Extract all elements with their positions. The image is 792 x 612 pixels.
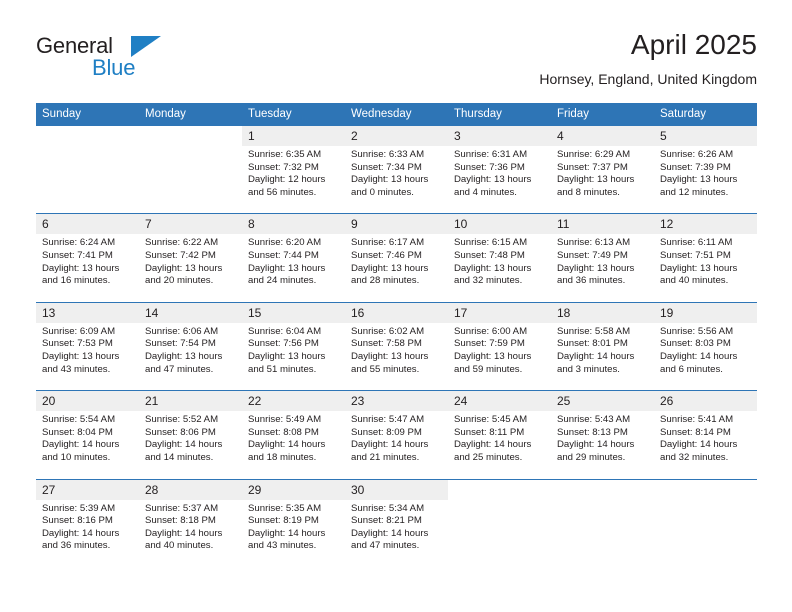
day-number: 30 — [345, 480, 448, 500]
sunset-time: Sunset: 7:36 PM — [454, 162, 545, 175]
daylight-duration-line1: Daylight: 14 hours — [351, 528, 442, 541]
day-number: 4 — [551, 126, 654, 146]
sunset-time: Sunset: 7:53 PM — [42, 338, 133, 351]
calendar-cell-inner: 18Sunrise: 5:58 AMSunset: 8:01 PMDayligh… — [551, 303, 654, 390]
day-details: Sunrise: 5:39 AMSunset: 8:16 PMDaylight:… — [36, 500, 139, 567]
sunrise-time: Sunrise: 5:49 AM — [248, 414, 339, 427]
sunrise-time: Sunrise: 5:39 AM — [42, 503, 133, 516]
daylight-duration-line1: Daylight: 13 hours — [557, 174, 648, 187]
sunset-time: Sunset: 7:49 PM — [557, 250, 648, 263]
weekday-header-friday: Friday — [551, 103, 654, 126]
page-title: April 2025 — [539, 28, 757, 62]
sunset-time: Sunset: 8:06 PM — [145, 427, 236, 440]
calendar-day-cell[interactable]: 28Sunrise: 5:37 AMSunset: 8:18 PMDayligh… — [139, 479, 242, 567]
calendar-day-cell[interactable]: 30Sunrise: 5:34 AMSunset: 8:21 PMDayligh… — [345, 479, 448, 567]
sunrise-time: Sunrise: 6:26 AM — [660, 149, 751, 162]
daylight-duration-line2: and 32 minutes. — [660, 452, 751, 465]
calendar-cell-inner: 30Sunrise: 5:34 AMSunset: 8:21 PMDayligh… — [345, 480, 448, 567]
sunset-time: Sunset: 7:42 PM — [145, 250, 236, 263]
calendar-cell-inner: 7Sunrise: 6:22 AMSunset: 7:42 PMDaylight… — [139, 214, 242, 301]
day-details: Sunrise: 5:41 AMSunset: 8:14 PMDaylight:… — [654, 411, 757, 478]
sunset-time: Sunset: 8:03 PM — [660, 338, 751, 351]
daylight-duration-line2: and 12 minutes. — [660, 187, 751, 200]
daylight-duration-line2: and 18 minutes. — [248, 452, 339, 465]
calendar-day-cell[interactable]: 11Sunrise: 6:13 AMSunset: 7:49 PMDayligh… — [551, 214, 654, 302]
sunset-time: Sunset: 8:01 PM — [557, 338, 648, 351]
day-number — [551, 480, 654, 500]
daylight-duration-line1: Daylight: 13 hours — [42, 263, 133, 276]
calendar-day-cell[interactable]: 10Sunrise: 6:15 AMSunset: 7:48 PMDayligh… — [448, 214, 551, 302]
day-number: 7 — [139, 214, 242, 234]
sunrise-time: Sunrise: 5:52 AM — [145, 414, 236, 427]
day-number: 19 — [654, 303, 757, 323]
calendar-cell-inner: 13Sunrise: 6:09 AMSunset: 7:53 PMDayligh… — [36, 303, 139, 390]
weekday-header-wednesday: Wednesday — [345, 103, 448, 126]
sunset-time: Sunset: 8:18 PM — [145, 515, 236, 528]
day-number — [654, 480, 757, 500]
day-details — [36, 146, 139, 163]
sunrise-time: Sunrise: 6:11 AM — [660, 237, 751, 250]
calendar-day-cell[interactable]: 12Sunrise: 6:11 AMSunset: 7:51 PMDayligh… — [654, 214, 757, 302]
daylight-duration-line2: and 8 minutes. — [557, 187, 648, 200]
calendar-day-cell[interactable]: 1Sunrise: 6:35 AMSunset: 7:32 PMDaylight… — [242, 126, 345, 214]
calendar-cell-inner: 27Sunrise: 5:39 AMSunset: 8:16 PMDayligh… — [36, 480, 139, 567]
sunrise-time: Sunrise: 5:54 AM — [42, 414, 133, 427]
day-number: 15 — [242, 303, 345, 323]
calendar-day-cell[interactable]: 26Sunrise: 5:41 AMSunset: 8:14 PMDayligh… — [654, 391, 757, 479]
daylight-duration-line2: and 6 minutes. — [660, 364, 751, 377]
daylight-duration-line1: Daylight: 13 hours — [660, 263, 751, 276]
day-details: Sunrise: 5:45 AMSunset: 8:11 PMDaylight:… — [448, 411, 551, 478]
daylight-duration-line2: and 20 minutes. — [145, 275, 236, 288]
sunrise-time: Sunrise: 6:06 AM — [145, 326, 236, 339]
day-details: Sunrise: 6:06 AMSunset: 7:54 PMDaylight:… — [139, 323, 242, 390]
day-number — [139, 126, 242, 146]
day-number: 11 — [551, 214, 654, 234]
daylight-duration-line1: Daylight: 13 hours — [248, 351, 339, 364]
calendar-cell-inner: 4Sunrise: 6:29 AMSunset: 7:37 PMDaylight… — [551, 126, 654, 213]
calendar-cell-inner: 1Sunrise: 6:35 AMSunset: 7:32 PMDaylight… — [242, 126, 345, 213]
calendar-table: Sunday Monday Tuesday Wednesday Thursday… — [36, 103, 757, 567]
calendar-cell-empty — [654, 479, 757, 567]
calendar-cell-inner: 5Sunrise: 6:26 AMSunset: 7:39 PMDaylight… — [654, 126, 757, 213]
daylight-duration-line2: and 14 minutes. — [145, 452, 236, 465]
calendar-cell-inner: 14Sunrise: 6:06 AMSunset: 7:54 PMDayligh… — [139, 303, 242, 390]
calendar-day-cell[interactable]: 3Sunrise: 6:31 AMSunset: 7:36 PMDaylight… — [448, 126, 551, 214]
sunrise-time: Sunrise: 5:56 AM — [660, 326, 751, 339]
calendar-cell-empty — [139, 126, 242, 214]
daylight-duration-line2: and 47 minutes. — [145, 364, 236, 377]
day-number: 16 — [345, 303, 448, 323]
calendar-day-cell[interactable]: 29Sunrise: 5:35 AMSunset: 8:19 PMDayligh… — [242, 479, 345, 567]
daylight-duration-line2: and 56 minutes. — [248, 187, 339, 200]
day-number: 25 — [551, 391, 654, 411]
calendar-body: 1Sunrise: 6:35 AMSunset: 7:32 PMDaylight… — [36, 126, 757, 567]
calendar-cell-inner: 20Sunrise: 5:54 AMSunset: 8:04 PMDayligh… — [36, 391, 139, 478]
day-details: Sunrise: 5:54 AMSunset: 8:04 PMDaylight:… — [36, 411, 139, 478]
calendar-cell-empty — [36, 126, 139, 214]
daylight-duration-line1: Daylight: 13 hours — [351, 351, 442, 364]
weekday-header-tuesday: Tuesday — [242, 103, 345, 126]
day-number: 2 — [345, 126, 448, 146]
day-number: 17 — [448, 303, 551, 323]
daylight-duration-line1: Daylight: 12 hours — [248, 174, 339, 187]
daylight-duration-line2: and 36 minutes. — [42, 540, 133, 553]
sunrise-time: Sunrise: 5:43 AM — [557, 414, 648, 427]
calendar-header-row: Sunday Monday Tuesday Wednesday Thursday… — [36, 103, 757, 126]
page-subtitle: Hornsey, England, United Kingdom — [539, 71, 757, 88]
weekday-header-thursday: Thursday — [448, 103, 551, 126]
calendar-day-cell[interactable]: 4Sunrise: 6:29 AMSunset: 7:37 PMDaylight… — [551, 126, 654, 214]
weekday-header-monday: Monday — [139, 103, 242, 126]
sunset-time: Sunset: 8:21 PM — [351, 515, 442, 528]
sunrise-time: Sunrise: 6:20 AM — [248, 237, 339, 250]
day-details: Sunrise: 5:56 AMSunset: 8:03 PMDaylight:… — [654, 323, 757, 390]
day-number: 6 — [36, 214, 139, 234]
sunrise-time: Sunrise: 5:34 AM — [351, 503, 442, 516]
daylight-duration-line1: Daylight: 13 hours — [454, 263, 545, 276]
calendar-day-cell[interactable]: 17Sunrise: 6:00 AMSunset: 7:59 PMDayligh… — [448, 302, 551, 390]
daylight-duration-line1: Daylight: 14 hours — [42, 528, 133, 541]
daylight-duration-line1: Daylight: 13 hours — [660, 174, 751, 187]
day-number — [448, 480, 551, 500]
page-header: General Blue April 2025 Hornsey, England… — [36, 28, 757, 98]
day-number: 3 — [448, 126, 551, 146]
calendar-day-cell[interactable]: 24Sunrise: 5:45 AMSunset: 8:11 PMDayligh… — [448, 391, 551, 479]
daylight-duration-line2: and 40 minutes. — [660, 275, 751, 288]
daylight-duration-line2: and 32 minutes. — [454, 275, 545, 288]
day-details: Sunrise: 5:52 AMSunset: 8:06 PMDaylight:… — [139, 411, 242, 478]
day-details: Sunrise: 6:04 AMSunset: 7:56 PMDaylight:… — [242, 323, 345, 390]
calendar-cell-inner: 29Sunrise: 5:35 AMSunset: 8:19 PMDayligh… — [242, 480, 345, 567]
day-number: 12 — [654, 214, 757, 234]
day-number: 29 — [242, 480, 345, 500]
daylight-duration-line2: and 59 minutes. — [454, 364, 545, 377]
sunrise-time: Sunrise: 5:37 AM — [145, 503, 236, 516]
calendar-day-cell[interactable]: 5Sunrise: 6:26 AMSunset: 7:39 PMDaylight… — [654, 126, 757, 214]
sunset-time: Sunset: 8:09 PM — [351, 427, 442, 440]
day-details: Sunrise: 6:29 AMSunset: 7:37 PMDaylight:… — [551, 146, 654, 213]
calendar-cell-inner: 9Sunrise: 6:17 AMSunset: 7:46 PMDaylight… — [345, 214, 448, 301]
calendar-cell-inner: 19Sunrise: 5:56 AMSunset: 8:03 PMDayligh… — [654, 303, 757, 390]
daylight-duration-line1: Daylight: 14 hours — [248, 528, 339, 541]
daylight-duration-line2: and 0 minutes. — [351, 187, 442, 200]
calendar-day-cell[interactable]: 7Sunrise: 6:22 AMSunset: 7:42 PMDaylight… — [139, 214, 242, 302]
day-details: Sunrise: 6:09 AMSunset: 7:53 PMDaylight:… — [36, 323, 139, 390]
daylight-duration-line2: and 25 minutes. — [454, 452, 545, 465]
daylight-duration-line2: and 3 minutes. — [557, 364, 648, 377]
sunset-time: Sunset: 8:08 PM — [248, 427, 339, 440]
calendar-cell-inner — [448, 480, 551, 552]
sunrise-time: Sunrise: 5:45 AM — [454, 414, 545, 427]
sunset-time: Sunset: 7:51 PM — [660, 250, 751, 263]
daylight-duration-line2: and 47 minutes. — [351, 540, 442, 553]
sunrise-time: Sunrise: 6:29 AM — [557, 149, 648, 162]
calendar-week-row: 13Sunrise: 6:09 AMSunset: 7:53 PMDayligh… — [36, 302, 757, 390]
calendar-day-cell[interactable]: 19Sunrise: 5:56 AMSunset: 8:03 PMDayligh… — [654, 302, 757, 390]
sunrise-time: Sunrise: 6:35 AM — [248, 149, 339, 162]
calendar-page: General Blue April 2025 Hornsey, England… — [0, 0, 792, 612]
calendar-cell-inner: 17Sunrise: 6:00 AMSunset: 7:59 PMDayligh… — [448, 303, 551, 390]
day-number: 8 — [242, 214, 345, 234]
daylight-duration-line1: Daylight: 14 hours — [557, 439, 648, 452]
calendar-cell-inner — [551, 480, 654, 552]
day-details: Sunrise: 5:37 AMSunset: 8:18 PMDaylight:… — [139, 500, 242, 567]
calendar-cell-inner: 24Sunrise: 5:45 AMSunset: 8:11 PMDayligh… — [448, 391, 551, 478]
daylight-duration-line2: and 4 minutes. — [454, 187, 545, 200]
day-details: Sunrise: 6:33 AMSunset: 7:34 PMDaylight:… — [345, 146, 448, 213]
day-details: Sunrise: 6:11 AMSunset: 7:51 PMDaylight:… — [654, 234, 757, 301]
sunset-time: Sunset: 8:14 PM — [660, 427, 751, 440]
daylight-duration-line1: Daylight: 14 hours — [145, 439, 236, 452]
day-details: Sunrise: 6:02 AMSunset: 7:58 PMDaylight:… — [345, 323, 448, 390]
daylight-duration-line1: Daylight: 14 hours — [660, 439, 751, 452]
sunset-time: Sunset: 8:13 PM — [557, 427, 648, 440]
day-number: 26 — [654, 391, 757, 411]
calendar-day-cell[interactable]: 6Sunrise: 6:24 AMSunset: 7:41 PMDaylight… — [36, 214, 139, 302]
sunrise-time: Sunrise: 6:02 AM — [351, 326, 442, 339]
day-details: Sunrise: 5:35 AMSunset: 8:19 PMDaylight:… — [242, 500, 345, 567]
day-details: Sunrise: 6:31 AMSunset: 7:36 PMDaylight:… — [448, 146, 551, 213]
day-details — [551, 500, 654, 517]
calendar-day-cell[interactable]: 15Sunrise: 6:04 AMSunset: 7:56 PMDayligh… — [242, 302, 345, 390]
calendar-day-cell[interactable]: 2Sunrise: 6:33 AMSunset: 7:34 PMDaylight… — [345, 126, 448, 214]
daylight-duration-line2: and 10 minutes. — [42, 452, 133, 465]
day-details: Sunrise: 5:49 AMSunset: 8:08 PMDaylight:… — [242, 411, 345, 478]
calendar-day-cell[interactable]: 27Sunrise: 5:39 AMSunset: 8:16 PMDayligh… — [36, 479, 139, 567]
sunset-time: Sunset: 7:59 PM — [454, 338, 545, 351]
day-details: Sunrise: 5:58 AMSunset: 8:01 PMDaylight:… — [551, 323, 654, 390]
calendar-cell-inner: 22Sunrise: 5:49 AMSunset: 8:08 PMDayligh… — [242, 391, 345, 478]
day-details: Sunrise: 5:43 AMSunset: 8:13 PMDaylight:… — [551, 411, 654, 478]
sunrise-time: Sunrise: 6:22 AM — [145, 237, 236, 250]
calendar-week-row: 6Sunrise: 6:24 AMSunset: 7:41 PMDaylight… — [36, 214, 757, 302]
day-details: Sunrise: 6:35 AMSunset: 7:32 PMDaylight:… — [242, 146, 345, 213]
day-number — [36, 126, 139, 146]
day-details — [448, 500, 551, 517]
calendar-week-row: 20Sunrise: 5:54 AMSunset: 8:04 PMDayligh… — [36, 391, 757, 479]
daylight-duration-line2: and 21 minutes. — [351, 452, 442, 465]
day-number: 10 — [448, 214, 551, 234]
sunset-time: Sunset: 7:37 PM — [557, 162, 648, 175]
calendar-cell-inner: 10Sunrise: 6:15 AMSunset: 7:48 PMDayligh… — [448, 214, 551, 301]
daylight-duration-line2: and 24 minutes. — [248, 275, 339, 288]
daylight-duration-line2: and 40 minutes. — [145, 540, 236, 553]
calendar-day-cell[interactable]: 8Sunrise: 6:20 AMSunset: 7:44 PMDaylight… — [242, 214, 345, 302]
sunset-time: Sunset: 7:58 PM — [351, 338, 442, 351]
daylight-duration-line1: Daylight: 14 hours — [145, 528, 236, 541]
daylight-duration-line1: Daylight: 14 hours — [454, 439, 545, 452]
calendar-cell-inner: 6Sunrise: 6:24 AMSunset: 7:41 PMDaylight… — [36, 214, 139, 301]
calendar-cell-inner: 11Sunrise: 6:13 AMSunset: 7:49 PMDayligh… — [551, 214, 654, 301]
sunset-time: Sunset: 7:48 PM — [454, 250, 545, 263]
day-number: 21 — [139, 391, 242, 411]
day-details: Sunrise: 5:47 AMSunset: 8:09 PMDaylight:… — [345, 411, 448, 478]
calendar-week-row: 1Sunrise: 6:35 AMSunset: 7:32 PMDaylight… — [36, 126, 757, 214]
sunset-time: Sunset: 7:39 PM — [660, 162, 751, 175]
day-number: 24 — [448, 391, 551, 411]
daylight-duration-line2: and 55 minutes. — [351, 364, 442, 377]
calendar-cell-inner: 23Sunrise: 5:47 AMSunset: 8:09 PMDayligh… — [345, 391, 448, 478]
sunset-time: Sunset: 7:46 PM — [351, 250, 442, 263]
day-details: Sunrise: 6:22 AMSunset: 7:42 PMDaylight:… — [139, 234, 242, 301]
sunset-time: Sunset: 7:32 PM — [248, 162, 339, 175]
day-details: Sunrise: 6:00 AMSunset: 7:59 PMDaylight:… — [448, 323, 551, 390]
daylight-duration-line2: and 36 minutes. — [557, 275, 648, 288]
weekday-header-sunday: Sunday — [36, 103, 139, 126]
daylight-duration-line2: and 43 minutes. — [42, 364, 133, 377]
daylight-duration-line1: Daylight: 13 hours — [351, 174, 442, 187]
daylight-duration-line1: Daylight: 13 hours — [145, 263, 236, 276]
daylight-duration-line1: Daylight: 14 hours — [660, 351, 751, 364]
calendar-cell-inner: 28Sunrise: 5:37 AMSunset: 8:18 PMDayligh… — [139, 480, 242, 567]
sunrise-time: Sunrise: 5:47 AM — [351, 414, 442, 427]
calendar-day-cell[interactable]: 20Sunrise: 5:54 AMSunset: 8:04 PMDayligh… — [36, 391, 139, 479]
calendar-cell-inner: 12Sunrise: 6:11 AMSunset: 7:51 PMDayligh… — [654, 214, 757, 301]
day-number: 14 — [139, 303, 242, 323]
sunrise-time: Sunrise: 6:15 AM — [454, 237, 545, 250]
calendar-cell-inner: 15Sunrise: 6:04 AMSunset: 7:56 PMDayligh… — [242, 303, 345, 390]
daylight-duration-line1: Daylight: 14 hours — [557, 351, 648, 364]
calendar-cell-empty — [551, 479, 654, 567]
calendar-cell-inner: 26Sunrise: 5:41 AMSunset: 8:14 PMDayligh… — [654, 391, 757, 478]
daylight-duration-line1: Daylight: 14 hours — [42, 439, 133, 452]
sunrise-time: Sunrise: 6:31 AM — [454, 149, 545, 162]
day-details: Sunrise: 6:26 AMSunset: 7:39 PMDaylight:… — [654, 146, 757, 213]
day-details: Sunrise: 5:34 AMSunset: 8:21 PMDaylight:… — [345, 500, 448, 567]
calendar-cell-inner: 8Sunrise: 6:20 AMSunset: 7:44 PMDaylight… — [242, 214, 345, 301]
day-details — [654, 500, 757, 517]
calendar-cell-empty — [448, 479, 551, 567]
daylight-duration-line1: Daylight: 13 hours — [557, 263, 648, 276]
day-number: 9 — [345, 214, 448, 234]
sunrise-time: Sunrise: 6:04 AM — [248, 326, 339, 339]
day-details: Sunrise: 6:17 AMSunset: 7:46 PMDaylight:… — [345, 234, 448, 301]
calendar-week-row: 27Sunrise: 5:39 AMSunset: 8:16 PMDayligh… — [36, 479, 757, 567]
day-number: 20 — [36, 391, 139, 411]
day-details: Sunrise: 6:20 AMSunset: 7:44 PMDaylight:… — [242, 234, 345, 301]
sunrise-time: Sunrise: 5:58 AM — [557, 326, 648, 339]
sunset-time: Sunset: 8:11 PM — [454, 427, 545, 440]
daylight-duration-line2: and 16 minutes. — [42, 275, 133, 288]
sunset-time: Sunset: 7:56 PM — [248, 338, 339, 351]
day-details: Sunrise: 6:13 AMSunset: 7:49 PMDaylight:… — [551, 234, 654, 301]
day-number: 23 — [345, 391, 448, 411]
daylight-duration-line1: Daylight: 13 hours — [42, 351, 133, 364]
sunset-time: Sunset: 8:04 PM — [42, 427, 133, 440]
day-number: 18 — [551, 303, 654, 323]
weekday-header-saturday: Saturday — [654, 103, 757, 126]
day-number: 27 — [36, 480, 139, 500]
calendar-day-cell[interactable]: 18Sunrise: 5:58 AMSunset: 8:01 PMDayligh… — [551, 302, 654, 390]
title-block: April 2025 Hornsey, England, United King… — [539, 28, 757, 88]
calendar-day-cell[interactable]: 21Sunrise: 5:52 AMSunset: 8:06 PMDayligh… — [139, 391, 242, 479]
day-number: 13 — [36, 303, 139, 323]
sunrise-time: Sunrise: 6:33 AM — [351, 149, 442, 162]
calendar-cell-inner: 21Sunrise: 5:52 AMSunset: 8:06 PMDayligh… — [139, 391, 242, 478]
calendar-day-cell[interactable]: 13Sunrise: 6:09 AMSunset: 7:53 PMDayligh… — [36, 302, 139, 390]
day-details — [139, 146, 242, 163]
calendar-day-cell[interactable]: 9Sunrise: 6:17 AMSunset: 7:46 PMDaylight… — [345, 214, 448, 302]
calendar-day-cell[interactable]: 23Sunrise: 5:47 AMSunset: 8:09 PMDayligh… — [345, 391, 448, 479]
daylight-duration-line1: Daylight: 14 hours — [351, 439, 442, 452]
sunset-time: Sunset: 8:16 PM — [42, 515, 133, 528]
daylight-duration-line1: Daylight: 13 hours — [454, 351, 545, 364]
day-details: Sunrise: 6:15 AMSunset: 7:48 PMDaylight:… — [448, 234, 551, 301]
sunset-time: Sunset: 7:54 PM — [145, 338, 236, 351]
sunrise-time: Sunrise: 6:09 AM — [42, 326, 133, 339]
sunrise-time: Sunrise: 5:35 AM — [248, 503, 339, 516]
day-number: 1 — [242, 126, 345, 146]
logo-text-blue: Blue — [92, 56, 135, 80]
calendar-day-cell[interactable]: 25Sunrise: 5:43 AMSunset: 8:13 PMDayligh… — [551, 391, 654, 479]
logo-triangle-icon — [131, 36, 161, 57]
daylight-duration-line1: Daylight: 14 hours — [248, 439, 339, 452]
general-blue-logo[interactable]: General Blue — [36, 34, 166, 86]
sunrise-time: Sunrise: 6:17 AM — [351, 237, 442, 250]
calendar-day-cell[interactable]: 14Sunrise: 6:06 AMSunset: 7:54 PMDayligh… — [139, 302, 242, 390]
daylight-duration-line2: and 28 minutes. — [351, 275, 442, 288]
day-number: 5 — [654, 126, 757, 146]
calendar-cell-inner: 3Sunrise: 6:31 AMSunset: 7:36 PMDaylight… — [448, 126, 551, 213]
calendar-cell-inner: 16Sunrise: 6:02 AMSunset: 7:58 PMDayligh… — [345, 303, 448, 390]
daylight-duration-line1: Daylight: 13 hours — [454, 174, 545, 187]
daylight-duration-line1: Daylight: 13 hours — [351, 263, 442, 276]
day-details: Sunrise: 6:24 AMSunset: 7:41 PMDaylight:… — [36, 234, 139, 301]
calendar-cell-inner: 25Sunrise: 5:43 AMSunset: 8:13 PMDayligh… — [551, 391, 654, 478]
sunset-time: Sunset: 7:34 PM — [351, 162, 442, 175]
sunrise-time: Sunrise: 6:13 AM — [557, 237, 648, 250]
daylight-duration-line2: and 43 minutes. — [248, 540, 339, 553]
calendar-cell-inner — [36, 126, 139, 198]
sunrise-time: Sunrise: 6:00 AM — [454, 326, 545, 339]
day-number: 22 — [242, 391, 345, 411]
sunset-time: Sunset: 8:19 PM — [248, 515, 339, 528]
sunset-time: Sunset: 7:44 PM — [248, 250, 339, 263]
calendar-cell-inner: 2Sunrise: 6:33 AMSunset: 7:34 PMDaylight… — [345, 126, 448, 213]
day-number: 28 — [139, 480, 242, 500]
daylight-duration-line2: and 29 minutes. — [557, 452, 648, 465]
daylight-duration-line1: Daylight: 13 hours — [248, 263, 339, 276]
calendar-day-cell[interactable]: 16Sunrise: 6:02 AMSunset: 7:58 PMDayligh… — [345, 302, 448, 390]
daylight-duration-line2: and 51 minutes. — [248, 364, 339, 377]
calendar-cell-inner — [654, 480, 757, 552]
calendar-day-cell[interactable]: 22Sunrise: 5:49 AMSunset: 8:08 PMDayligh… — [242, 391, 345, 479]
sunrise-time: Sunrise: 5:41 AM — [660, 414, 751, 427]
sunrise-time: Sunrise: 6:24 AM — [42, 237, 133, 250]
calendar-cell-inner — [139, 126, 242, 198]
sunset-time: Sunset: 7:41 PM — [42, 250, 133, 263]
daylight-duration-line1: Daylight: 13 hours — [145, 351, 236, 364]
